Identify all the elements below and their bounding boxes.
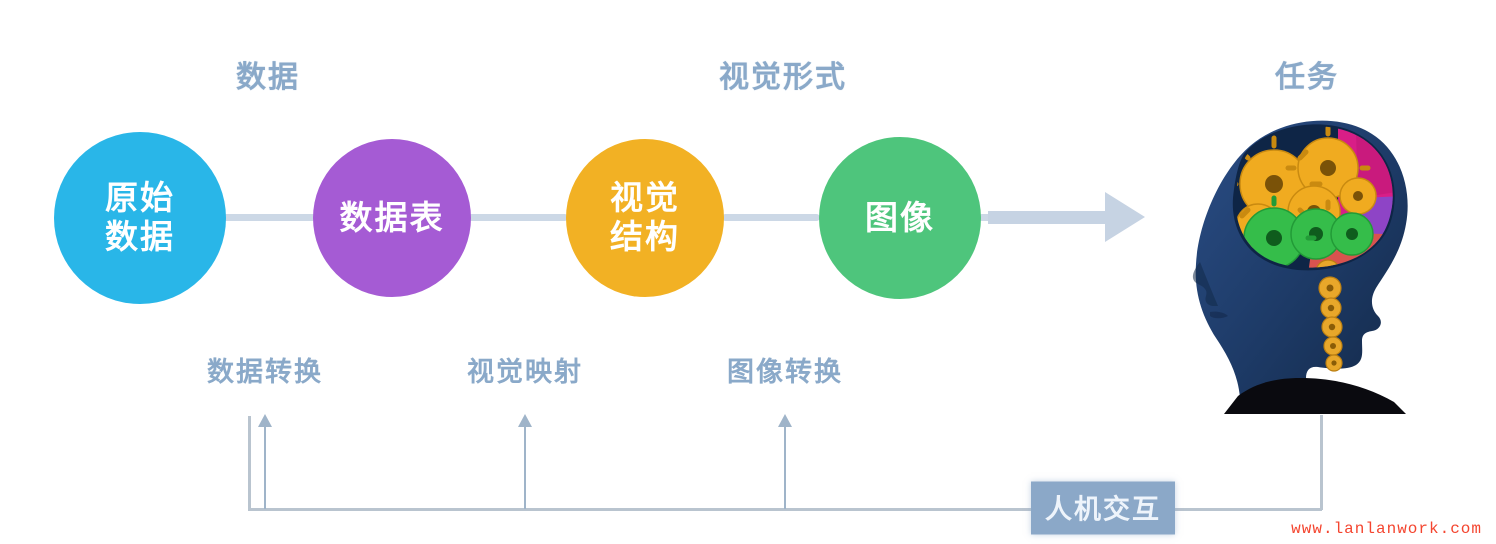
connector-table-to-structure	[468, 214, 568, 221]
flow-arrow-right-icon	[1105, 192, 1145, 242]
flow-arrow-shaft	[988, 211, 1110, 224]
feedback-arrow-up-icon-1	[258, 414, 272, 427]
connector-structure-to-image	[722, 214, 820, 221]
node-image-line1: 图像	[865, 199, 935, 238]
node-data-table[interactable]: 数据表	[313, 139, 471, 297]
feedback-bus-riser-right	[1320, 415, 1323, 510]
node-image[interactable]: 图像	[819, 137, 981, 299]
hci-badge-label: 人机交互	[1045, 488, 1161, 527]
stage-label-visual-form: 视觉形式	[719, 52, 847, 96]
node-visual-structure[interactable]: 视觉 结构	[566, 139, 724, 297]
stage-label-data: 数据	[236, 52, 300, 96]
node-raw-data[interactable]: 原始 数据	[54, 132, 226, 304]
process-label-visual-mapping: 视觉映射	[467, 350, 583, 389]
feedback-arrow-up-icon-3	[778, 414, 792, 427]
watermark: www.lanlanwork.com	[1291, 520, 1482, 538]
feedback-arrow-stem-2	[524, 426, 526, 509]
node-raw-data-line1: 原始	[105, 179, 175, 218]
node-visual-structure-line2: 结构	[610, 218, 680, 257]
diagram-canvas: 数据 视觉形式 任务 原始 数据 数据表 视觉 结构 图像	[0, 0, 1496, 544]
node-data-table-line1: 数据表	[340, 199, 445, 238]
process-label-image-transform: 图像转换	[727, 350, 843, 389]
feedback-arrow-stem-3	[784, 426, 786, 509]
feedback-arrow-up-icon-2	[518, 414, 532, 427]
feedback-arrow-stem-1	[264, 426, 266, 509]
process-label-data-transform: 数据转换	[207, 350, 323, 389]
connector-raw-to-table	[222, 214, 316, 221]
stage-label-task: 任务	[1275, 52, 1339, 96]
hci-badge[interactable]: 人机交互	[1031, 482, 1175, 535]
node-visual-structure-line1: 视觉	[610, 179, 680, 218]
node-raw-data-line2: 数据	[105, 218, 175, 257]
brain-gears-head-icon	[1188, 112, 1420, 418]
feedback-bus-riser-left	[248, 416, 251, 510]
